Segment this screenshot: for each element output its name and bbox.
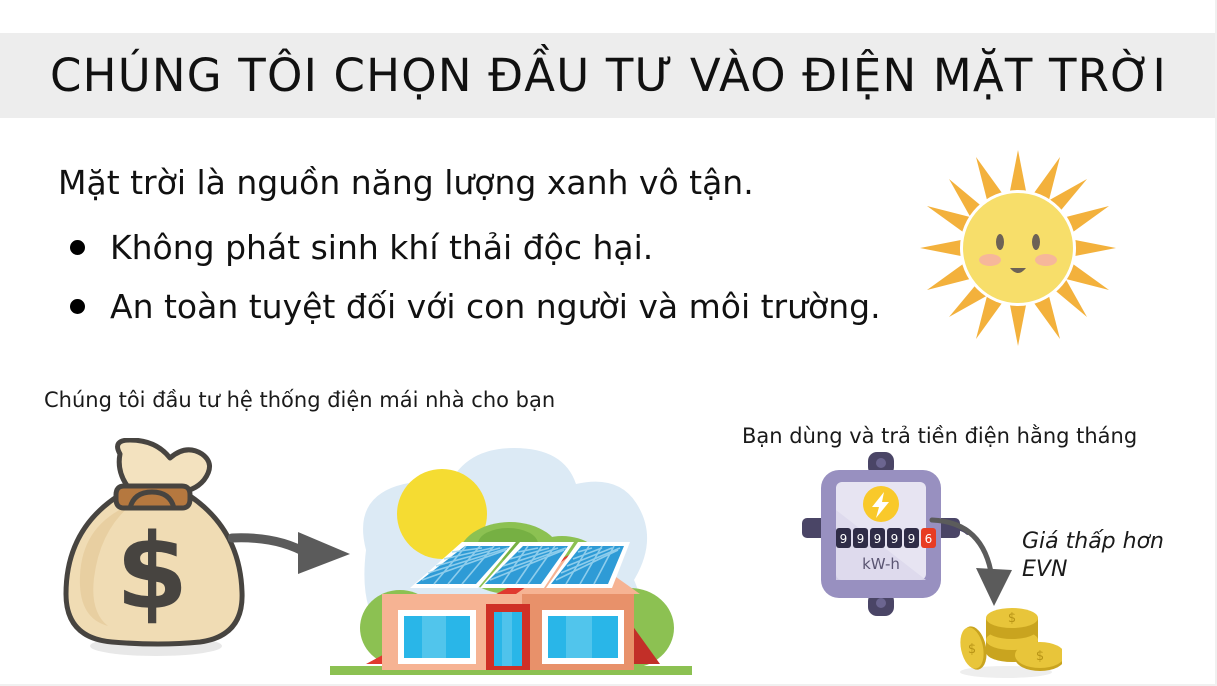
meter-digit-5: 9 — [908, 532, 916, 546]
bullet-dot-icon — [70, 240, 85, 255]
meter-digit-3: 9 — [874, 532, 882, 546]
caption-invest: Chúng tôi đầu tư hệ thống điện mái nhà c… — [44, 388, 555, 412]
bullet-item-1: Không phát sinh khí thải độc hại. — [70, 228, 653, 267]
meter-digit-1: 9 — [840, 532, 848, 546]
meter-digit-4: 9 — [891, 532, 899, 546]
page-title: CHÚNG TÔI CHỌN ĐẦU TƯ VÀO ĐIỆN MẶT TRỜI — [0, 33, 1217, 118]
lead-line: Mặt trời là nguồn năng lượng xanh vô tận… — [58, 163, 754, 202]
note-cheaper-than-evn: Giá thấp hơn EVN — [1022, 528, 1164, 584]
coin-right-dollar-label: $ — [1036, 649, 1044, 664]
caption-pay: Bạn dùng và trả tiền điện hằng tháng — [742, 424, 1137, 448]
bullet-item-2: An toàn tuyệt đối với con người và môi t… — [70, 287, 881, 326]
money-bag-dollar-label: $ — [116, 511, 188, 633]
money-bag-icon: $ — [58, 438, 248, 666]
gold-coins-icon: $ $ $ — [948, 596, 1062, 680]
note-line-2: EVN — [1022, 556, 1164, 584]
slide-canvas: CHÚNG TÔI CHỌN ĐẦU TƯ VÀO ĐIỆN MẶT TRỜI … — [0, 0, 1217, 686]
note-line-1: Giá thấp hơn — [1022, 528, 1164, 556]
bullet-label-2: An toàn tuyệt đối với con người và môi t… — [110, 287, 881, 326]
coin-left-dollar-label: $ — [968, 642, 976, 657]
meter-digit-2: 9 — [857, 532, 865, 546]
solar-house-illustration — [330, 432, 692, 680]
smiling-sun-icon — [918, 148, 1118, 348]
bullet-dot-icon — [70, 299, 85, 314]
arrow-curved-down-icon — [928, 512, 1036, 608]
meter-unit-label: kW-h — [862, 555, 900, 573]
bullet-label-1: Không phát sinh khí thải độc hại. — [110, 228, 653, 267]
coin-stack-dollar-label: $ — [1008, 611, 1016, 626]
